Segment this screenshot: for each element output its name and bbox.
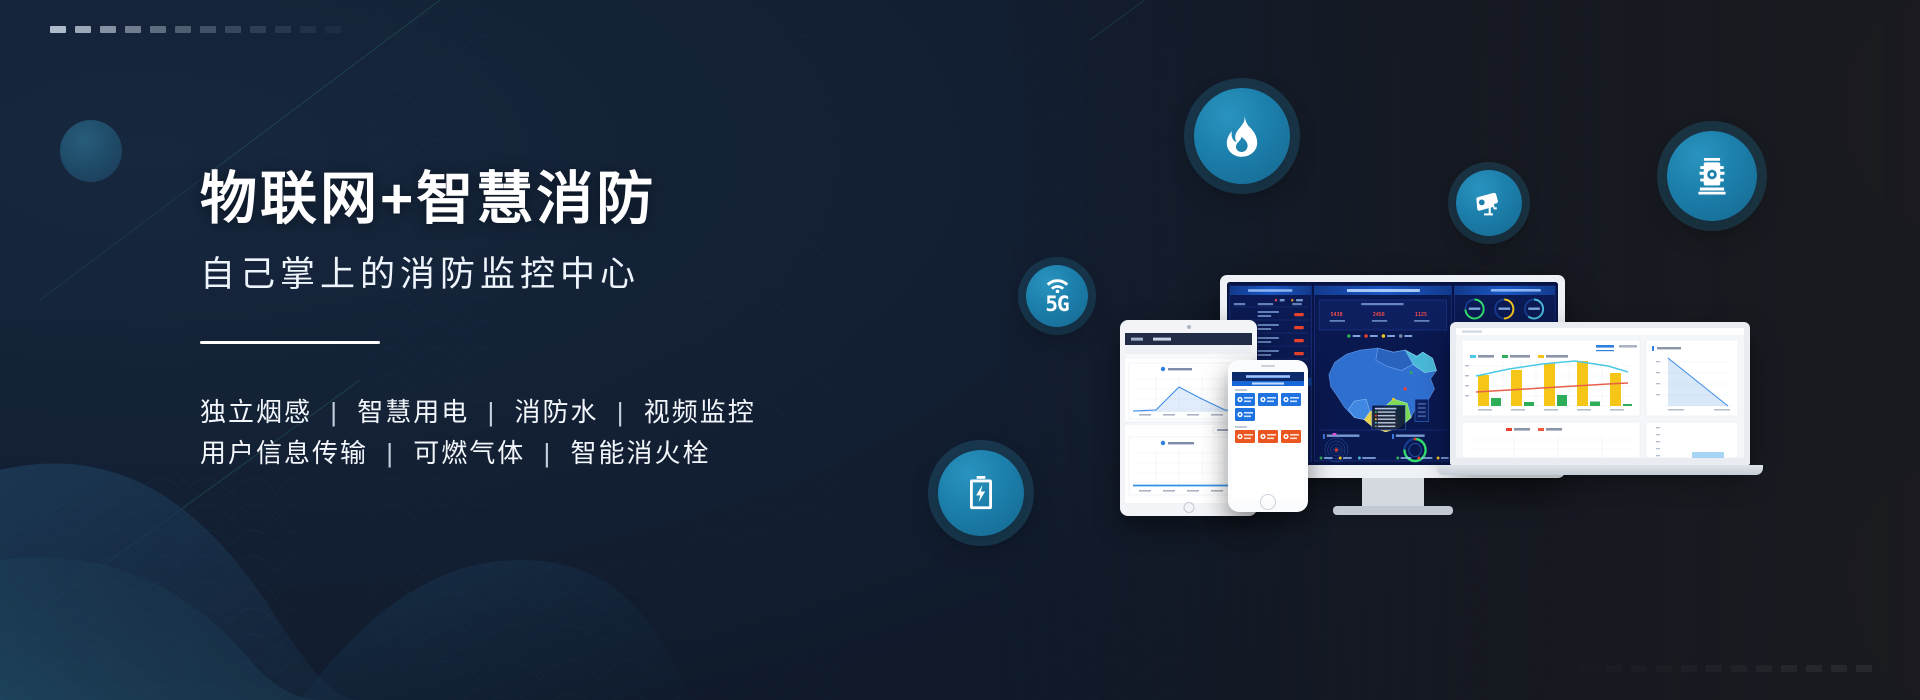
- page-subtitle: 自己掌上的消防监控中心: [200, 254, 920, 296]
- divider: [200, 341, 380, 344]
- feature-list: 独立烟感 | 智慧用电 | 消防水 | 视频监控 用户信息传输 | 可燃气体 |…: [200, 392, 920, 474]
- phone-app-content: [1232, 372, 1304, 500]
- laptop-dashboard-content: [1456, 328, 1744, 458]
- tablet-home-button[interactable]: [1183, 502, 1194, 513]
- feature-item: 视频监控: [644, 397, 756, 427]
- feature-item: 智慧用电: [357, 397, 469, 427]
- hydrant-badge[interactable]: [1667, 131, 1757, 221]
- hydrant-icon: [1690, 154, 1734, 198]
- phone-orange-tiles: [1235, 430, 1301, 443]
- hero-copy: 物联网+智慧消防 自己掌上的消防监控中心 独立烟感 | 智慧用电 | 消防水 |…: [200, 168, 920, 474]
- svg-text:2456: 2456: [1373, 312, 1385, 318]
- camera-badge[interactable]: [1456, 170, 1522, 236]
- signal-5g-badge[interactable]: 5G: [1026, 265, 1088, 327]
- feature-separator: |: [535, 438, 562, 468]
- feature-separator: |: [377, 438, 404, 468]
- signal-5g-label: 5G: [1045, 294, 1068, 315]
- flame-icon: [1218, 112, 1266, 160]
- laptop-device: [1450, 322, 1750, 475]
- battery-badge[interactable]: [938, 450, 1024, 536]
- wifi-icon: [1044, 278, 1071, 293]
- tablet-camera-dot: [1187, 325, 1191, 329]
- monitor-base: [1333, 506, 1453, 515]
- feature-item: 智能消火栓: [571, 438, 711, 468]
- feature-separator: |: [479, 397, 506, 427]
- feature-item: 独立烟感: [200, 397, 312, 427]
- laptop-screen: [1456, 328, 1744, 458]
- feature-separator: |: [608, 397, 635, 427]
- decor-circle-left: [60, 120, 122, 182]
- feature-line-2: 用户信息传输 | 可燃气体 | 智能消火栓: [200, 433, 920, 474]
- monitor-stand: [1362, 478, 1424, 506]
- decor-dashes-bottom: [1581, 665, 1872, 672]
- phone-home-button[interactable]: [1260, 494, 1276, 510]
- feature-item: 消防水: [515, 397, 599, 427]
- feature-separator: |: [321, 397, 348, 427]
- feature-item: 可燃气体: [413, 438, 525, 468]
- svg-text:1125: 1125: [1415, 312, 1427, 318]
- feature-item: 用户信息传输: [200, 438, 368, 468]
- mobile-phone: [1228, 360, 1308, 512]
- hero-banner: 物联网+智慧消防 自己掌上的消防监控中心 独立烟感 | 智慧用电 | 消防水 |…: [0, 0, 1920, 700]
- laptop-chart-legend: [1470, 355, 1568, 358]
- phone-speaker: [1261, 365, 1275, 367]
- phone-screen: [1232, 372, 1304, 500]
- svg-text:5430: 5430: [1331, 312, 1343, 318]
- laptop-lid: [1450, 322, 1750, 465]
- camera-icon: [1473, 187, 1506, 220]
- feature-line-1: 独立烟感 | 智慧用电 | 消防水 | 视频监控: [200, 392, 920, 433]
- device-mockup-group: 5430 2456 1125: [1120, 275, 1800, 595]
- battery-bolt-icon: [961, 473, 1001, 513]
- flame-badge[interactable]: [1194, 88, 1290, 184]
- monitor-panel-map: 5430 2456 1125: [1314, 286, 1451, 462]
- laptop-base: [1437, 465, 1763, 475]
- decor-dashes-top: [50, 26, 341, 33]
- page-title: 物联网+智慧消防: [200, 168, 920, 232]
